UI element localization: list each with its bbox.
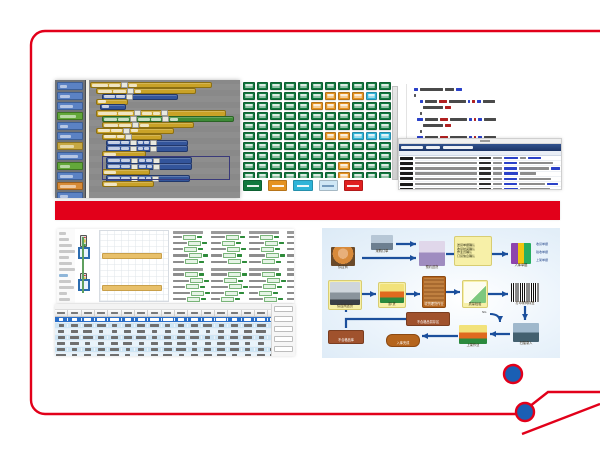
table-cell[interactable] <box>108 348 121 350</box>
flow-box-receiving-desk[interactable]: 预约送货 <box>418 240 446 270</box>
error-list-tabbar[interactable] <box>399 139 561 144</box>
status-cell-103[interactable] <box>298 172 310 178</box>
status-cell-80[interactable] <box>284 152 296 160</box>
table-cell[interactable] <box>95 354 108 356</box>
status-cell-23[interactable] <box>257 102 269 110</box>
status-cell-14[interactable] <box>284 92 296 100</box>
planning-node-1[interactable] <box>78 279 90 291</box>
status-cell-26[interactable] <box>298 102 310 110</box>
status-cell-7[interactable] <box>338 82 350 90</box>
status-cell-13[interactable] <box>270 92 282 100</box>
status-cell-104[interactable] <box>311 172 323 178</box>
table-cell[interactable] <box>175 342 188 344</box>
code-line-4[interactable] <box>408 111 422 115</box>
planning-mini-card-1[interactable] <box>211 230 248 266</box>
palette-block-6[interactable] <box>57 142 83 150</box>
status-cell-15[interactable] <box>298 92 310 100</box>
table-cell[interactable] <box>215 318 228 320</box>
status-cell-10[interactable] <box>379 82 391 90</box>
status-cell-105[interactable] <box>325 172 337 178</box>
status-cell-56[interactable] <box>257 132 269 140</box>
palette-block-2[interactable] <box>57 102 83 110</box>
status-cell-22[interactable] <box>243 102 255 110</box>
table-cell[interactable] <box>55 354 68 356</box>
status-cell-27[interactable] <box>311 102 323 110</box>
table-cell[interactable] <box>162 348 175 350</box>
status-cell-87[interactable] <box>379 152 391 160</box>
status-cell-21[interactable] <box>379 92 391 100</box>
table-cell[interactable] <box>175 336 188 338</box>
error-header-segment-0[interactable] <box>401 146 423 149</box>
status-cell-89[interactable] <box>257 162 269 170</box>
code-line-7[interactable] <box>408 129 422 133</box>
status-cell-18[interactable] <box>338 92 350 100</box>
code-line-6[interactable] <box>408 123 451 127</box>
block-socket[interactable] <box>150 146 157 152</box>
status-cell-6[interactable] <box>325 82 337 90</box>
table-col-header-8[interactable] <box>162 310 175 316</box>
status-cell-79[interactable] <box>270 152 282 160</box>
table-cell[interactable] <box>188 318 201 320</box>
table-cell[interactable] <box>148 318 161 320</box>
flow-box-shelf-storage[interactable]: 收货理货作业 <box>422 276 446 308</box>
status-cell-34[interactable] <box>257 112 269 120</box>
status-cell-48[interactable] <box>298 122 310 130</box>
table-cell[interactable] <box>68 318 81 320</box>
table-cell[interactable] <box>188 342 201 344</box>
table-cell[interactable] <box>148 342 161 344</box>
status-cell-3[interactable] <box>284 82 296 90</box>
status-cell-52[interactable] <box>352 122 364 130</box>
status-cell-45[interactable] <box>257 122 269 130</box>
status-cell-19[interactable] <box>352 92 364 100</box>
error-row-6[interactable] <box>399 187 561 190</box>
status-cell-92[interactable] <box>298 162 310 170</box>
status-cell-67[interactable] <box>257 142 269 150</box>
table-col-header-13[interactable] <box>228 310 241 316</box>
table-cell[interactable] <box>108 324 121 326</box>
table-cell[interactable] <box>255 348 268 350</box>
table-cell[interactable] <box>82 324 95 326</box>
palette-block-0[interactable] <box>57 82 83 90</box>
table-cell[interactable] <box>108 354 121 356</box>
table-cell[interactable] <box>148 336 161 338</box>
block-17[interactable] <box>102 181 154 187</box>
table-cell[interactable] <box>255 324 268 326</box>
table-side-button-1[interactable] <box>274 316 293 322</box>
planning-mini-card-4[interactable] <box>173 267 210 303</box>
status-cell-16[interactable] <box>311 92 323 100</box>
table-cell[interactable] <box>68 330 81 332</box>
table-col-header-7[interactable] <box>148 310 161 316</box>
planning-mini-card-6[interactable] <box>249 267 286 303</box>
table-cell[interactable] <box>95 342 108 344</box>
flow-box-unload-forklift[interactable]: 卸 货 <box>378 282 406 308</box>
table-col-header-12[interactable] <box>215 310 228 316</box>
table-cell[interactable] <box>175 354 188 356</box>
table-cell[interactable] <box>202 348 215 350</box>
table-cell[interactable] <box>215 336 228 338</box>
status-cell-41[interactable] <box>352 112 364 120</box>
status-cell-39[interactable] <box>325 112 337 120</box>
status-cell-30[interactable] <box>352 102 364 110</box>
table-cell[interactable] <box>55 318 68 320</box>
table-side-button-2[interactable] <box>274 326 293 332</box>
status-cell-61[interactable] <box>325 132 337 140</box>
table-cell[interactable] <box>215 324 228 326</box>
table-col-header-5[interactable] <box>122 310 135 316</box>
table-cell[interactable] <box>55 324 68 326</box>
table-cell[interactable] <box>95 318 108 320</box>
error-list-header[interactable] <box>399 144 561 151</box>
table-cell[interactable] <box>82 336 95 338</box>
status-cell-99[interactable] <box>243 172 255 178</box>
status-cell-96[interactable] <box>352 162 364 170</box>
status-grid[interactable] <box>243 82 391 178</box>
status-cell-20[interactable] <box>366 92 378 100</box>
blocks-palette[interactable] <box>55 80 86 198</box>
status-cell-77[interactable] <box>243 152 255 160</box>
table-cell[interactable] <box>255 330 268 332</box>
palette-block-1[interactable] <box>57 92 83 100</box>
status-cell-44[interactable] <box>243 122 255 130</box>
flow-box-print-book[interactable]: 入库单据 <box>510 242 532 268</box>
planning-grid-panel[interactable] <box>57 229 294 303</box>
flow-box-delivery-truck[interactable]: 供应商送货 <box>328 280 362 310</box>
palette-block-3[interactable] <box>57 112 83 120</box>
status-cell-98[interactable] <box>379 162 391 170</box>
palette-block-9[interactable] <box>57 172 83 180</box>
status-cell-68[interactable] <box>270 142 282 150</box>
table-cell[interactable] <box>175 324 188 326</box>
table-cell[interactable] <box>255 318 268 320</box>
error-header-segment-1[interactable] <box>426 146 440 149</box>
table-col-header-3[interactable] <box>95 310 108 316</box>
status-grid-panel[interactable] <box>243 82 391 178</box>
table-col-header-6[interactable] <box>135 310 148 316</box>
status-cell-84[interactable] <box>338 152 350 160</box>
status-cell-94[interactable] <box>325 162 337 170</box>
error-header-segment-2[interactable] <box>443 146 473 149</box>
flow-box-scan-confirm[interactable]: 扫描录入 <box>512 322 540 346</box>
status-cell-36[interactable] <box>284 112 296 120</box>
status-cell-28[interactable] <box>325 102 337 110</box>
block-socket[interactable] <box>125 134 132 140</box>
table-cell[interactable] <box>68 336 81 338</box>
table-cell[interactable] <box>82 348 95 350</box>
status-cell-55[interactable] <box>243 132 255 140</box>
table-cell[interactable] <box>215 342 228 344</box>
table-cell[interactable] <box>108 336 121 338</box>
table-cell[interactable] <box>108 330 121 332</box>
status-cell-42[interactable] <box>366 112 378 120</box>
table-cell[interactable] <box>95 324 108 326</box>
table-col-header-14[interactable] <box>242 310 255 316</box>
table-cell[interactable] <box>188 348 201 350</box>
status-cell-63[interactable] <box>352 132 364 140</box>
table-cell[interactable] <box>242 330 255 332</box>
status-cell-9[interactable] <box>366 82 378 90</box>
status-cell-65[interactable] <box>379 132 391 140</box>
table-cell[interactable] <box>82 354 95 356</box>
table-cell[interactable] <box>135 324 148 326</box>
status-cell-32[interactable] <box>379 102 391 110</box>
status-cell-17[interactable] <box>325 92 337 100</box>
planning-mini-card-2[interactable] <box>249 230 286 266</box>
table-cell[interactable] <box>68 354 81 356</box>
table-cell[interactable] <box>162 318 175 320</box>
status-cell-90[interactable] <box>270 162 282 170</box>
status-cell-50[interactable] <box>325 122 337 130</box>
code-editor-panel[interactable] <box>398 84 560 142</box>
table-cell[interactable] <box>135 330 148 332</box>
status-cell-46[interactable] <box>270 122 282 130</box>
code-line-3[interactable] <box>408 105 451 109</box>
status-cell-72[interactable] <box>325 142 337 150</box>
table-side-button-3[interactable] <box>274 336 293 342</box>
table-col-header-10[interactable] <box>188 310 201 316</box>
table-cell[interactable] <box>55 348 68 350</box>
status-cell-101[interactable] <box>270 172 282 178</box>
status-cell-49[interactable] <box>311 122 323 130</box>
blocks-canvas[interactable] <box>86 80 240 198</box>
status-cell-1[interactable] <box>257 82 269 90</box>
status-cell-2[interactable] <box>270 82 282 90</box>
table-cell[interactable] <box>255 354 268 356</box>
table-cell[interactable] <box>148 330 161 332</box>
table-cell[interactable] <box>95 348 108 350</box>
table-cell[interactable] <box>242 318 255 320</box>
status-cell-62[interactable] <box>338 132 350 140</box>
status-cell-66[interactable] <box>243 142 255 150</box>
status-cell-83[interactable] <box>325 152 337 160</box>
status-cell-58[interactable] <box>284 132 296 140</box>
table-cell[interactable] <box>162 324 175 326</box>
status-cell-97[interactable] <box>366 162 378 170</box>
status-cell-69[interactable] <box>284 142 296 150</box>
table-cell[interactable] <box>202 342 215 344</box>
table-cell[interactable] <box>202 336 215 338</box>
table-cell[interactable] <box>68 348 81 350</box>
status-cell-86[interactable] <box>366 152 378 160</box>
table-cell[interactable] <box>148 354 161 356</box>
planning-mini-cards[interactable] <box>172 229 294 303</box>
flow-box-inbound-complete[interactable]: 入库完成 <box>386 334 420 347</box>
table-cell[interactable] <box>135 336 148 338</box>
status-cell-82[interactable] <box>311 152 323 160</box>
table-rows[interactable] <box>55 317 295 356</box>
table-cell[interactable] <box>162 336 175 338</box>
table-cell[interactable] <box>202 354 215 356</box>
table-cell[interactable] <box>108 318 121 320</box>
table-cell[interactable] <box>162 354 175 356</box>
status-cell-107[interactable] <box>352 172 364 178</box>
code-line-5[interactable] <box>408 117 496 121</box>
status-cell-12[interactable] <box>257 92 269 100</box>
table-col-header-2[interactable] <box>82 310 95 316</box>
table-cell[interactable] <box>162 342 175 344</box>
flow-box-barcode-label[interactable]: 打印条码标签 <box>510 282 540 306</box>
table-cell[interactable] <box>82 318 95 320</box>
status-cell-0[interactable] <box>243 82 255 90</box>
table-cell[interactable] <box>135 318 148 320</box>
blocks-editor-panel[interactable] <box>55 80 240 198</box>
status-cell-60[interactable] <box>311 132 323 140</box>
status-cell-37[interactable] <box>298 112 310 120</box>
table-row[interactable] <box>55 353 295 356</box>
table-column-header[interactable] <box>55 310 295 317</box>
table-side-button-0[interactable] <box>274 306 293 312</box>
table-cell[interactable] <box>228 348 241 350</box>
table-cell[interactable] <box>122 330 135 332</box>
code-line-0[interactable] <box>408 87 462 91</box>
flow-box-order-pc[interactable]: 采购订单 <box>370 234 394 254</box>
code-line-1[interactable] <box>408 93 416 97</box>
status-cell-88[interactable] <box>243 162 255 170</box>
status-cell-24[interactable] <box>270 102 282 110</box>
flow-box-reject-area[interactable]: 不合格品暂存区 <box>406 312 450 326</box>
planning-bar-1[interactable] <box>102 285 162 291</box>
table-cell[interactable] <box>228 336 241 338</box>
status-cell-5[interactable] <box>311 82 323 90</box>
palette-block-4[interactable] <box>57 122 83 130</box>
status-cell-102[interactable] <box>284 172 296 178</box>
status-cell-33[interactable] <box>243 112 255 120</box>
status-cell-11[interactable] <box>243 92 255 100</box>
table-cell[interactable] <box>108 342 121 344</box>
table-cell[interactable] <box>82 330 95 332</box>
palette-block-11[interactable] <box>57 192 83 198</box>
status-cell-29[interactable] <box>338 102 350 110</box>
table-cell[interactable] <box>175 348 188 350</box>
status-cell-51[interactable] <box>338 122 350 130</box>
status-cell-40[interactable] <box>338 112 350 120</box>
planning-mini-card-5[interactable] <box>211 267 248 303</box>
table-cell[interactable] <box>135 354 148 356</box>
planning-bar-0[interactable] <box>102 253 162 259</box>
status-cell-106[interactable] <box>338 172 350 178</box>
table-cell[interactable] <box>175 330 188 332</box>
table-cell[interactable] <box>242 342 255 344</box>
table-cell[interactable] <box>68 342 81 344</box>
table-cell[interactable] <box>122 336 135 338</box>
palette-block-10[interactable] <box>57 182 83 190</box>
status-cell-35[interactable] <box>270 112 282 120</box>
status-cell-59[interactable] <box>298 132 310 140</box>
table-cell[interactable] <box>228 318 241 320</box>
table-cell[interactable] <box>202 324 215 326</box>
flow-box-supplier-person[interactable]: 供应商 <box>330 246 356 270</box>
table-cell[interactable] <box>215 348 228 350</box>
status-cell-108[interactable] <box>366 172 378 178</box>
error-list-panel[interactable] <box>398 138 562 190</box>
table-cell[interactable] <box>188 336 201 338</box>
planning-mini-card-0[interactable] <box>173 230 210 266</box>
block-9[interactable] <box>102 134 162 140</box>
table-cell[interactable] <box>215 330 228 332</box>
status-cell-85[interactable] <box>352 152 364 160</box>
status-cell-109[interactable] <box>379 172 391 178</box>
planning-mini-card-7[interactable] <box>287 267 294 303</box>
table-cell[interactable] <box>55 342 68 344</box>
status-cell-73[interactable] <box>338 142 350 150</box>
status-cell-93[interactable] <box>311 162 323 170</box>
status-cell-100[interactable] <box>257 172 269 178</box>
status-cell-76[interactable] <box>379 142 391 150</box>
table-cell[interactable] <box>148 324 161 326</box>
table-cell[interactable] <box>175 318 188 320</box>
table-cell[interactable] <box>135 348 148 350</box>
status-cell-74[interactable] <box>352 142 364 150</box>
table-col-header-0[interactable] <box>55 310 68 316</box>
table-cell[interactable] <box>228 354 241 356</box>
table-cell[interactable] <box>122 318 135 320</box>
status-cell-64[interactable] <box>366 132 378 140</box>
status-cell-95[interactable] <box>338 162 350 170</box>
table-cell[interactable] <box>242 348 255 350</box>
table-cell[interactable] <box>228 342 241 344</box>
table-cell[interactable] <box>148 348 161 350</box>
status-cell-25[interactable] <box>284 102 296 110</box>
status-cell-71[interactable] <box>311 142 323 150</box>
table-side-buttons[interactable] <box>271 304 295 356</box>
table-cell[interactable] <box>122 354 135 356</box>
table-cell[interactable] <box>55 336 68 338</box>
status-cell-43[interactable] <box>379 112 391 120</box>
status-cell-8[interactable] <box>352 82 364 90</box>
flow-box-reject-warehouse[interactable]: 不合格品库 <box>328 330 364 344</box>
palette-block-7[interactable] <box>57 152 83 160</box>
status-cell-47[interactable] <box>284 122 296 130</box>
status-cell-31[interactable] <box>366 102 378 110</box>
table-cell[interactable] <box>55 330 68 332</box>
table-cell[interactable] <box>162 330 175 332</box>
table-col-header-15[interactable] <box>255 310 268 316</box>
error-list-rows[interactable] <box>399 156 561 190</box>
table-cell[interactable] <box>202 318 215 320</box>
status-cell-75[interactable] <box>366 142 378 150</box>
table-col-header-4[interactable] <box>108 310 121 316</box>
table-cell[interactable] <box>68 324 81 326</box>
flow-box-quality-inspect[interactable]: 质量检验 <box>462 280 488 308</box>
block-4[interactable] <box>100 104 126 110</box>
table-col-header-9[interactable] <box>175 310 188 316</box>
status-cell-91[interactable] <box>284 162 296 170</box>
table-cell[interactable] <box>242 336 255 338</box>
table-col-header-11[interactable] <box>202 310 215 316</box>
table-cell[interactable] <box>228 324 241 326</box>
planning-gantt-grid[interactable] <box>99 230 169 302</box>
status-cell-53[interactable] <box>366 122 378 130</box>
table-side-button-4[interactable] <box>274 346 293 352</box>
table-cell[interactable] <box>82 342 95 344</box>
planning-mini-card-3[interactable] <box>287 230 294 266</box>
table-cell[interactable] <box>122 342 135 344</box>
table-cell[interactable] <box>135 342 148 344</box>
table-cell[interactable] <box>188 330 201 332</box>
status-cell-54[interactable] <box>379 122 391 130</box>
status-cell-81[interactable] <box>298 152 310 160</box>
flow-box-putaway-station[interactable]: 上架作业 <box>458 324 488 348</box>
table-cell[interactable] <box>255 336 268 338</box>
data-table-panel[interactable] <box>55 304 295 356</box>
logistics-flow-panel[interactable]: 供应商采购订单预约送货入库单据供应商送货卸 货收货理货作业质量检验打印条码标签扫… <box>322 228 560 358</box>
palette-block-8[interactable] <box>57 162 83 170</box>
palette-block-5[interactable] <box>57 132 83 140</box>
status-cell-4[interactable] <box>298 82 310 90</box>
table-cell[interactable] <box>122 348 135 350</box>
code-line-2[interactable] <box>408 99 495 103</box>
